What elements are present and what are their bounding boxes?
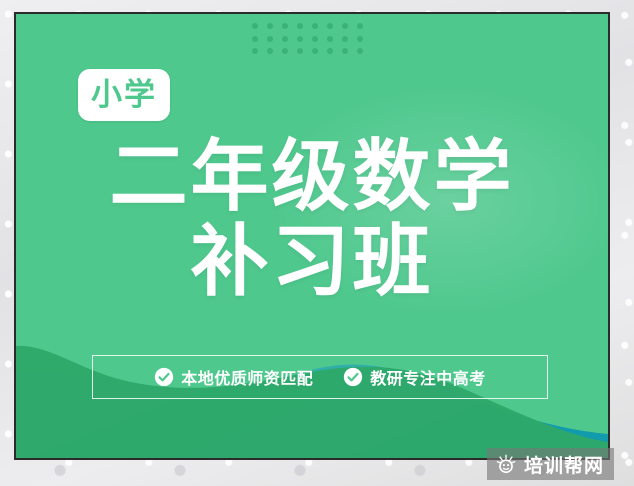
grid-dot [312,36,318,42]
grid-dot [252,48,258,54]
grid-dot [327,23,333,29]
feature-highlight-bar: 本地优质师资匹配 教研专注中高考 [92,355,548,399]
grid-dot [267,48,273,54]
site-watermark: 培训帮网 [487,448,614,480]
grid-dot [327,48,333,54]
grid-dot [312,48,318,54]
screenshot-root: 小学 二年级数学 补习班 本地优质师资匹配 教研专注中高考 [0,0,634,486]
feature-label-0: 本地优质师资匹配 [181,365,313,389]
grid-dot [282,36,288,42]
grid-dot [342,48,348,54]
grid-dot [267,36,273,42]
course-poster-card: 小学 二年级数学 补习班 本地优质师资匹配 教研专注中高考 [14,12,610,460]
watermark-label: 培训帮网 [524,451,604,478]
grade-level-badge: 小学 [78,69,170,121]
grid-dot [357,23,363,29]
grid-dot [297,36,303,42]
grid-dot [327,36,333,42]
grid-dot [252,36,258,42]
grid-dot [267,23,273,29]
grid-dot [282,48,288,54]
grid-dot [252,23,258,29]
grid-dot [357,48,363,54]
grid-dot [357,36,363,42]
feature-item-0: 本地优质师资匹配 [154,365,313,389]
feature-item-1: 教研专注中高考 [343,365,486,389]
check-circle-icon [343,367,363,387]
poster-headline: 二年级数学 补习班 [16,138,608,303]
dot-grid-decoration [252,23,372,61]
feature-label-1: 教研专注中高考 [370,365,486,389]
grid-dot [297,23,303,29]
grid-dot [342,23,348,29]
check-circle-icon [154,367,174,387]
grid-dot [342,36,348,42]
grid-dot [282,23,288,29]
grid-dot [297,48,303,54]
grade-level-badge-label: 小学 [91,80,157,111]
headline-line-2: 补习班 [16,222,608,304]
sun-face-icon [495,453,517,475]
grid-dot [312,23,318,29]
headline-line-1: 二年级数学 [16,138,608,218]
